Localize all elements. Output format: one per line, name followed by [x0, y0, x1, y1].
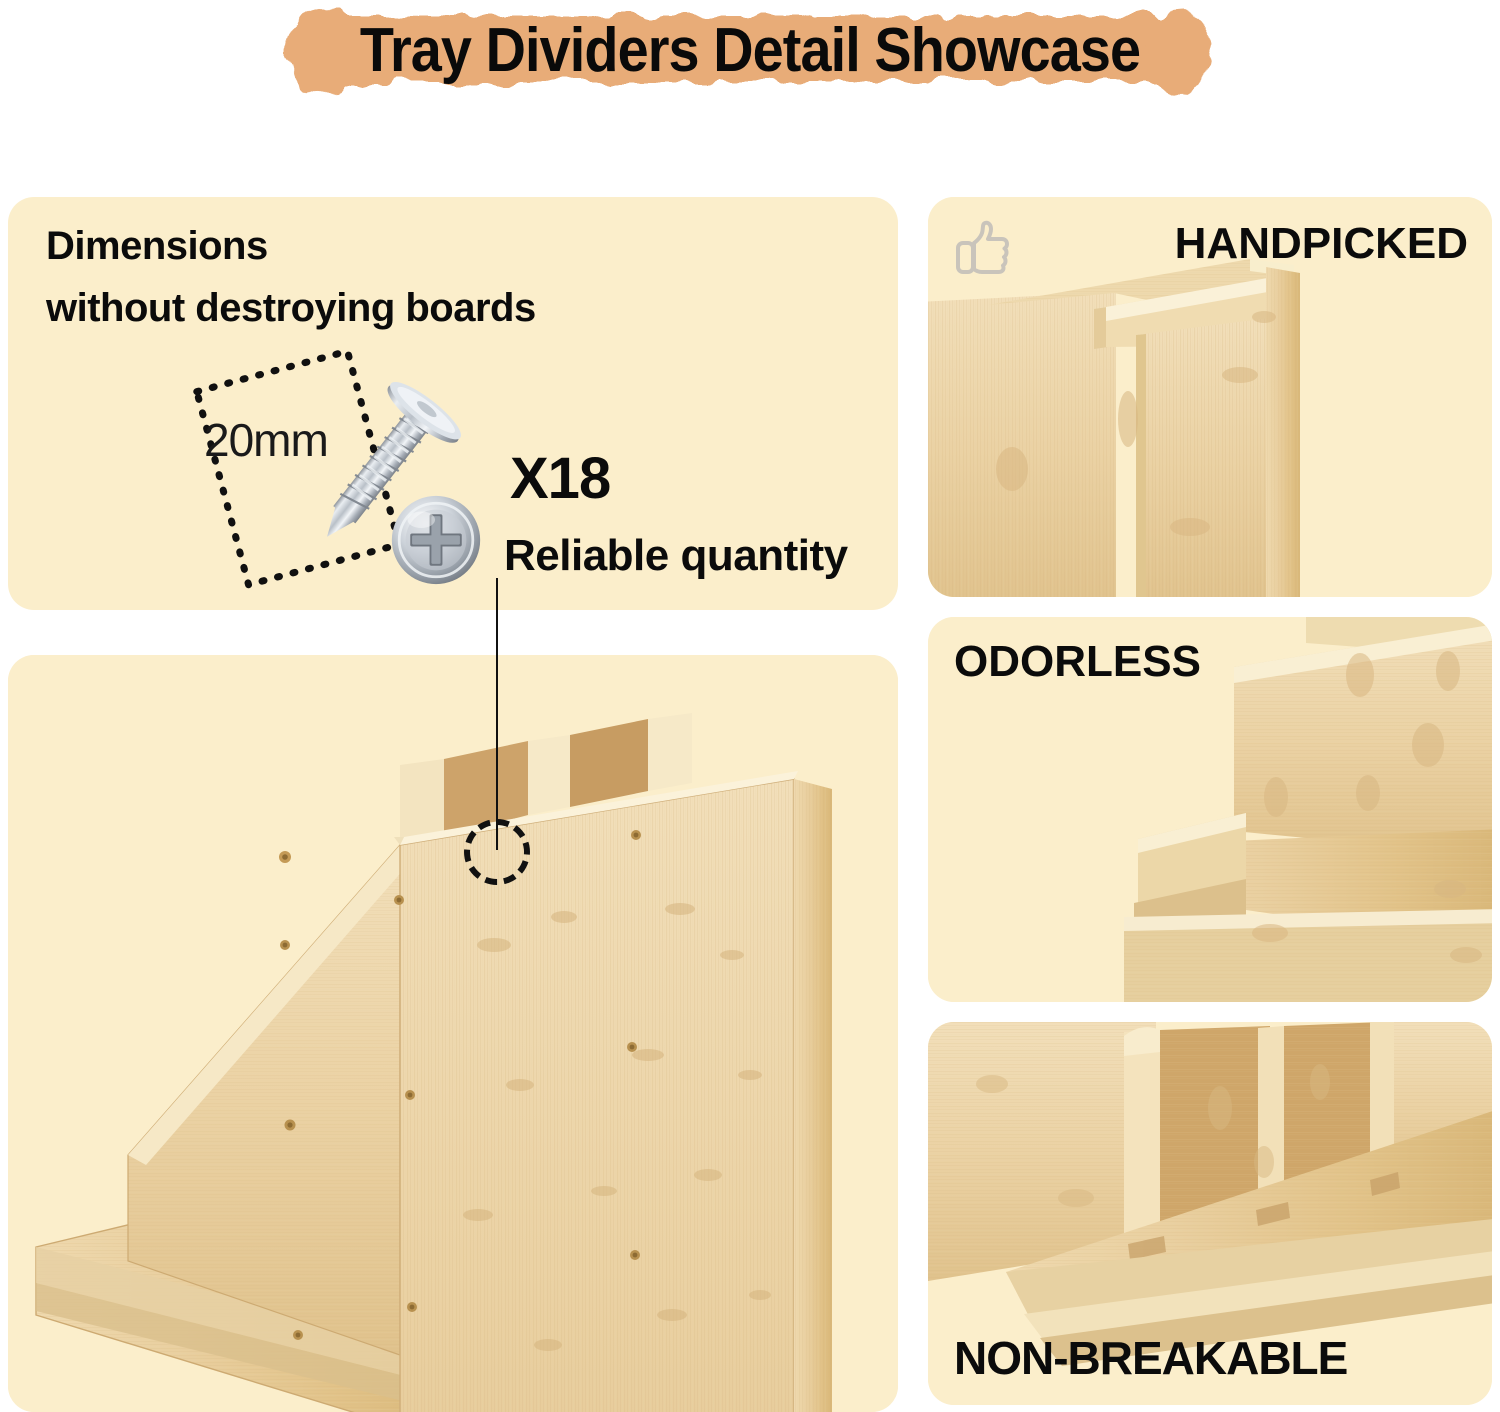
title-container: Tray Dividers Detail Showcase: [317, 6, 1184, 94]
dimensions-heading-line1: Dimensions: [46, 224, 268, 269]
dimensions-panel: Dimensions without destroying boards 20m…: [8, 197, 898, 610]
feature-panel-handpicked: HANDPICKED: [928, 197, 1492, 597]
screw-head-icon: [390, 494, 482, 586]
dimensions-heading-line2: without destroying boards: [46, 286, 536, 331]
feature-panel-odorless: ODORLESS: [928, 617, 1492, 1002]
product-photo-tray-divider: [8, 655, 898, 1412]
feature-label-odorless: ODORLESS: [954, 637, 1201, 687]
feature-label-nonbreakable: NON-BREAKABLE: [954, 1331, 1347, 1385]
quantity-label: X18: [510, 445, 610, 512]
title-bar: Tray Dividers Detail Showcase: [0, 0, 1500, 150]
page-title: Tray Dividers Detail Showcase: [360, 15, 1140, 86]
main-product-panel: [8, 655, 898, 1412]
callout-leader-line: [496, 578, 498, 850]
feature-label-handpicked: HANDPICKED: [1175, 219, 1468, 269]
thumbs-up-icon: [950, 215, 1014, 279]
callout-circle-screw: [464, 819, 530, 885]
quantity-caption: Reliable quantity: [504, 531, 848, 581]
feature-panel-nonbreakable: NON-BREAKABLE: [928, 1022, 1492, 1405]
